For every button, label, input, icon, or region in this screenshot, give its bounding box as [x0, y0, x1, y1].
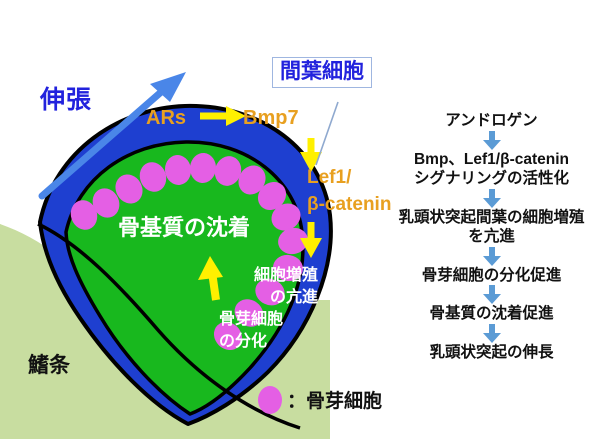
stretch-label: 伸張 — [40, 87, 92, 113]
flow-arrow-3 — [383, 247, 600, 267]
osteoblast-diff-label-line2: の分化 — [219, 334, 267, 351]
flow-step-proliferation-line1: 乳頭状突起間葉の細胞増殖 — [383, 209, 600, 228]
bmp7-label: Bmp7 — [243, 108, 299, 129]
legend-separator: ： — [287, 391, 306, 412]
legend-label: ：骨芽細胞 — [287, 392, 382, 412]
flow-arrow-2 — [383, 189, 600, 209]
flow-arrow-1 — [383, 131, 600, 151]
ars-label: ARs — [146, 108, 186, 129]
osteoblast-diff-label-line1: 骨芽細胞 — [219, 312, 283, 329]
flow-step-bone-matrix-deposition: 骨基質の沈着促進 — [383, 305, 600, 324]
flow-arrow-5 — [383, 324, 600, 344]
bone-matrix-label: 骨基質の沈着 — [118, 216, 250, 239]
flow-step-osteoblast-differentiation: 骨芽細胞の分化促進 — [383, 267, 600, 286]
proliferation-label-line1: 細胞増殖 — [254, 268, 318, 285]
flow-step-papilla-elongation: 乳頭状突起の伸長 — [383, 344, 600, 363]
callout-leader-line — [316, 102, 338, 165]
signaling-flowchart: アンドロゲン Bmp、Lef1/β-catenin シグナリングの活性化 乳頭状… — [383, 112, 600, 363]
fin-ray-label: 鰭条 — [28, 355, 70, 377]
flow-step-androgen: アンドロゲン — [383, 112, 600, 131]
beta-catenin-label: β-catenin — [307, 195, 391, 215]
diagram-canvas: 伸張 間葉細胞 ARs Bmp7 Lef1/ β-catenin 骨基質の沈着 … — [0, 0, 600, 439]
flow-step-signaling-line2: シグナリングの活性化 — [383, 170, 600, 189]
legend-marker-icon — [258, 386, 282, 414]
flow-step-signaling-activation: Bmp、Lef1/β-catenin シグナリングの活性化 — [383, 151, 600, 189]
proliferation-label-line2: の亢進 — [270, 290, 318, 307]
mesenchyme-callout-box: 間葉細胞 — [272, 57, 372, 88]
flow-step-proliferation-line2: を亢進 — [383, 228, 600, 247]
flow-step-signaling-line1: Bmp、Lef1/β-catenin — [383, 151, 600, 170]
flow-arrow-4 — [383, 285, 600, 305]
legend-osteoblast-text: 骨芽細胞 — [306, 391, 382, 412]
lef1-label: Lef1/ — [307, 168, 351, 188]
flow-step-mesenchyme-proliferation: 乳頭状突起間葉の細胞増殖 を亢進 — [383, 209, 600, 247]
